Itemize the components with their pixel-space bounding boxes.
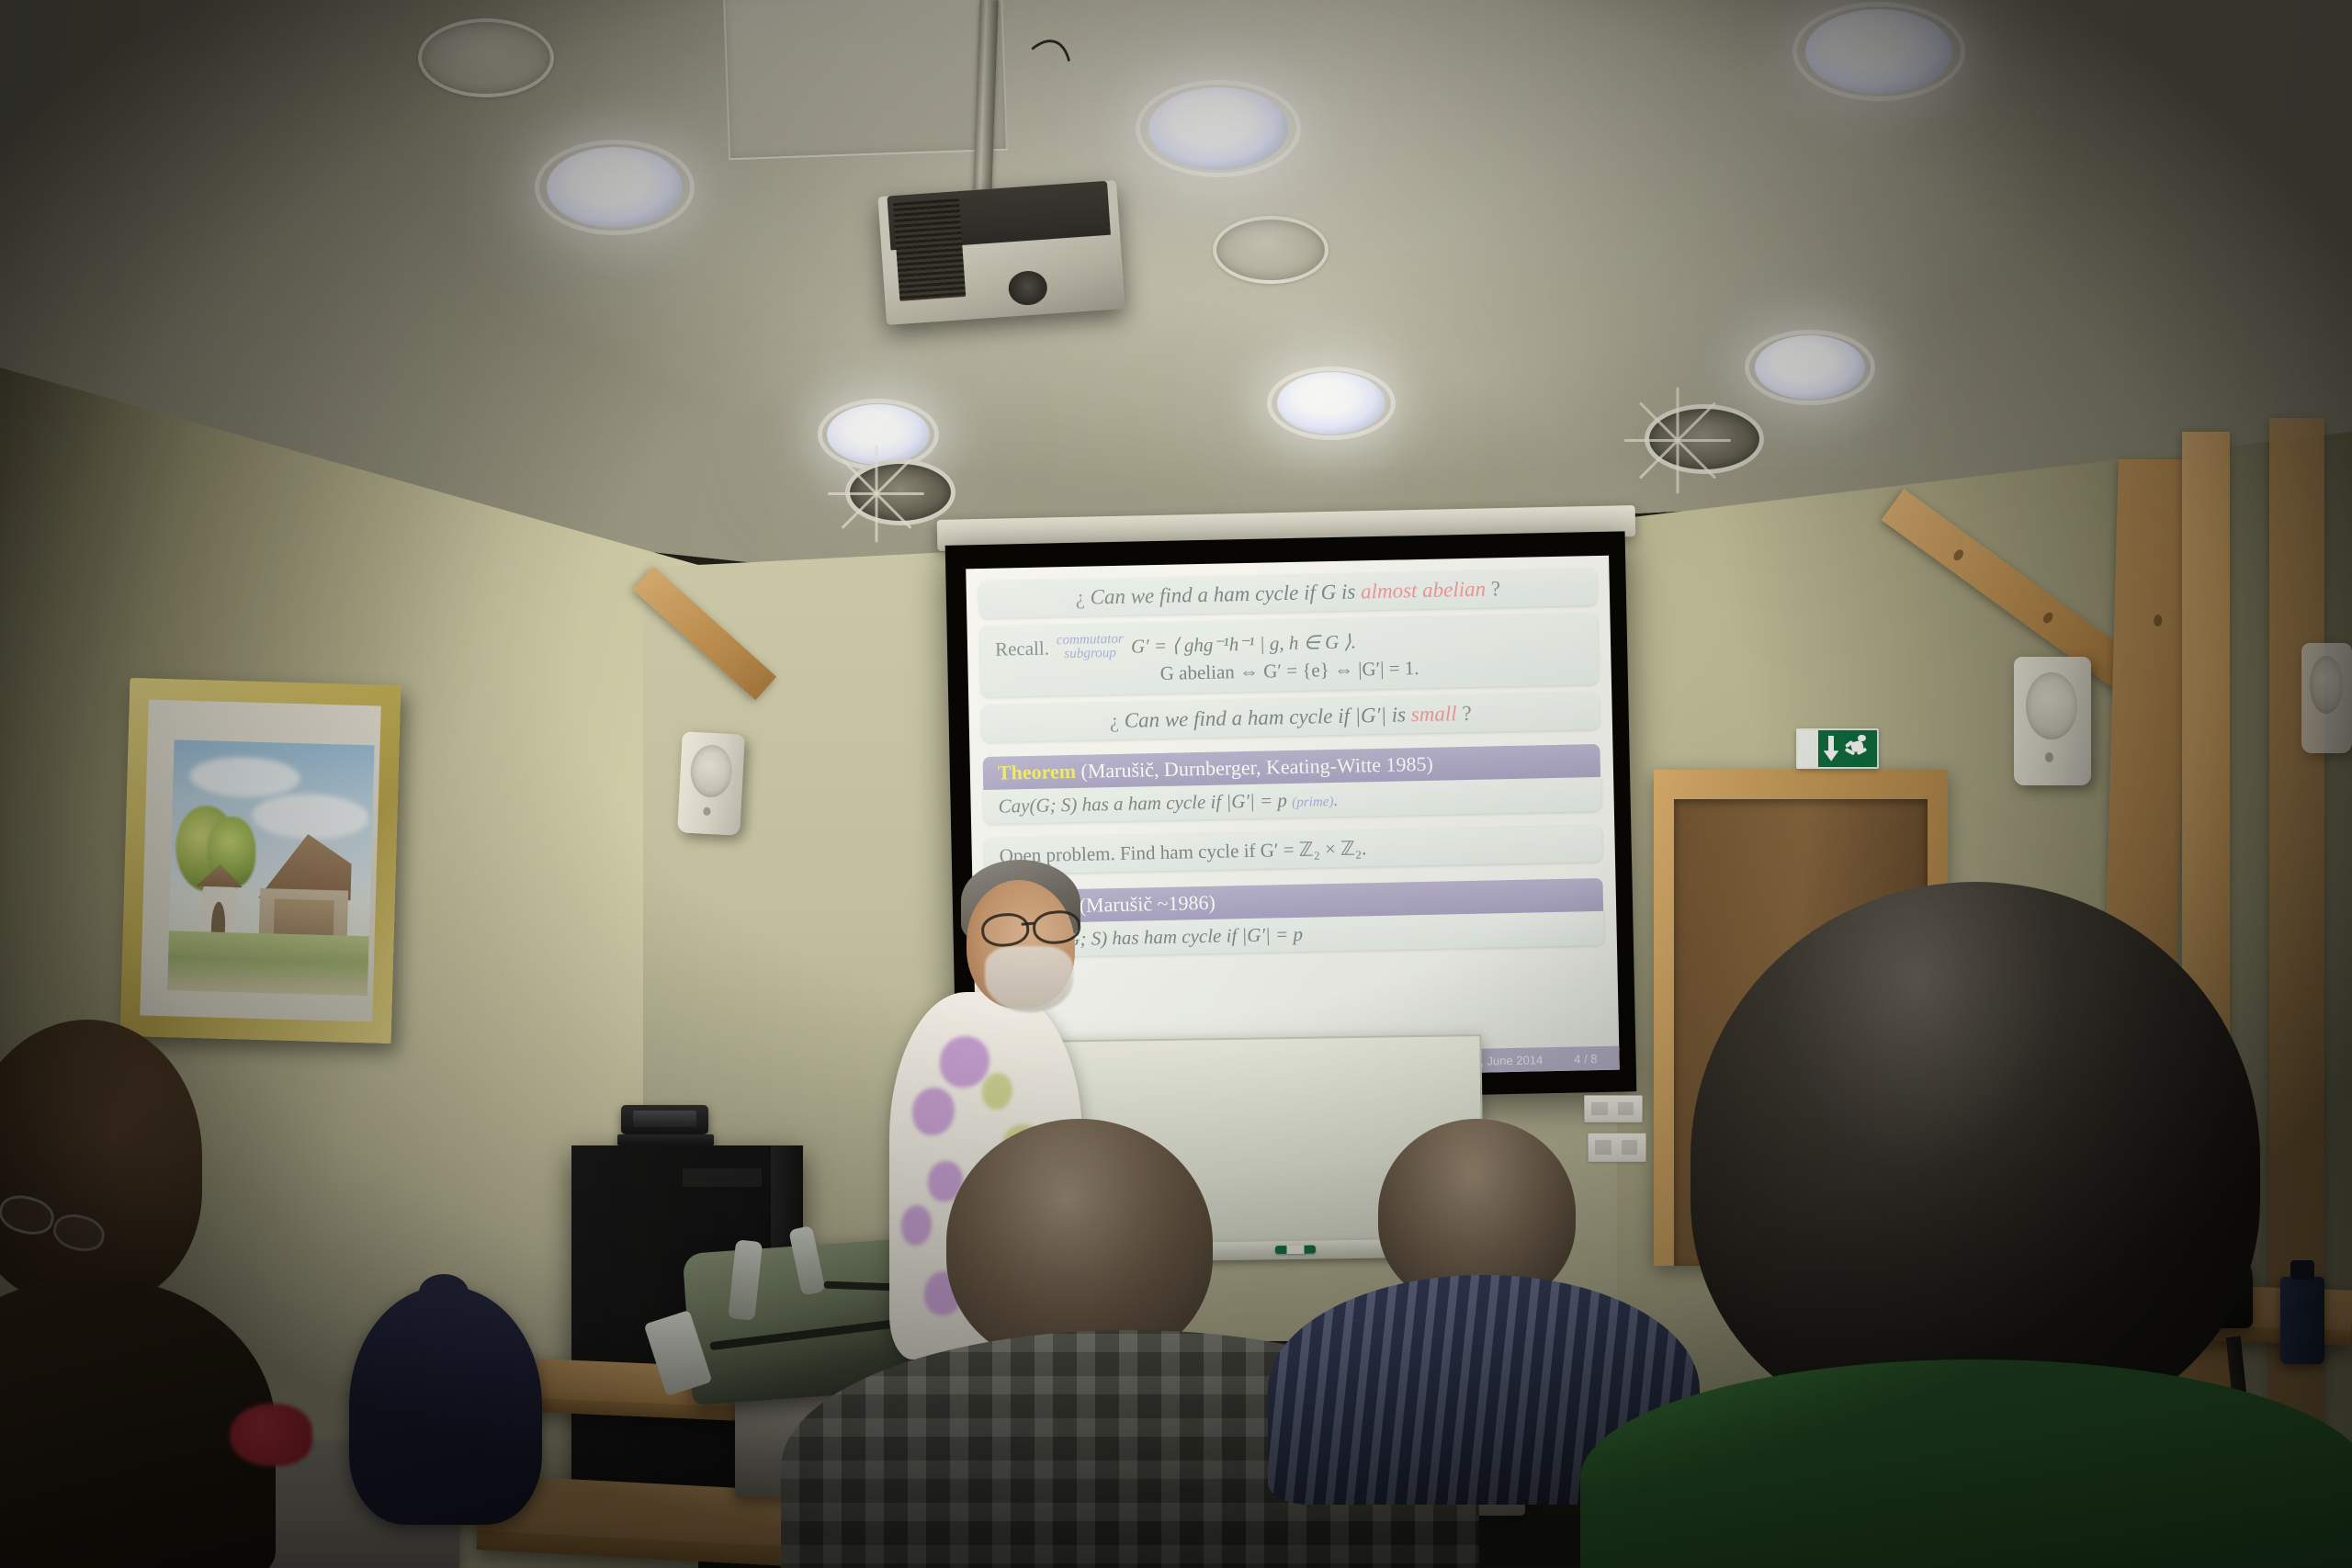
ceiling-light	[547, 147, 683, 228]
slide-question-2: ¿ Can we find a ham cycle if |G′| is sma…	[981, 693, 1600, 742]
audience-head	[1690, 882, 2260, 1433]
ceiling-light	[1277, 372, 1385, 434]
question-2-highlight: small	[1411, 703, 1457, 727]
question-2-math: |G′|	[1354, 704, 1386, 728]
question-2-text-b: is	[1386, 704, 1411, 728]
ceiling-projector	[877, 180, 1125, 325]
audience-head	[946, 1119, 1213, 1367]
recall-formula-1: G′ = ⟨ ghg⁻¹h⁻¹ | g, h ∈ G ⟩.	[1131, 631, 1357, 658]
down-arrow-icon	[1823, 736, 1840, 762]
presenter-beard	[985, 946, 1073, 1012]
ceiling-light	[827, 404, 930, 465]
painting-artwork	[167, 740, 375, 997]
question-mark-close: ?	[1491, 577, 1501, 600]
theorem-keyword: Theorem	[998, 760, 1077, 784]
question-1-text-a: Can we find a ham cycle if	[1090, 581, 1321, 608]
question-2-text-a: Can we find a ham cycle if	[1124, 705, 1355, 732]
theorem-attribution: (Marušič, Durnberger, Keating-Witte 1985…	[1080, 752, 1433, 783]
recall-formula-2: G abelian ⇔ G′ = {e} ⇔ |G′| = 1.	[1159, 657, 1419, 684]
ceiling-light	[1755, 335, 1865, 400]
air-vent	[845, 459, 955, 525]
ceiling-access-hatch	[723, 0, 1008, 160]
theorem-statement-note: (prime)	[1292, 795, 1334, 810]
ceiling-light	[1805, 9, 1952, 94]
question-2-mark-close: ?	[1462, 702, 1472, 725]
framed-painting	[120, 678, 401, 1043]
audience-green-shirt	[1580, 1359, 2352, 1568]
theorem-statement-end: .	[1333, 788, 1339, 810]
question-mark-open: ¿	[1075, 586, 1085, 609]
question-1-math-g: G	[1320, 581, 1336, 604]
ceiling-speaker-grille	[418, 18, 554, 97]
wall-speaker-left	[677, 731, 745, 835]
recall-annotation-line-2: subgroup	[1057, 647, 1124, 662]
slide-recall-block: Recall. commutator subgroup G′ = ⟨ ghg⁻¹…	[980, 614, 1599, 697]
lecture-room-photo: ¿ Can we find a ham cycle if G is almost…	[0, 0, 2352, 1568]
audience-beanie	[349, 1286, 542, 1525]
wall-speaker-far-right	[2301, 643, 2352, 753]
audience-shoulder	[0, 1277, 276, 1568]
slide-question-1: ¿ Can we find a ham cycle if G is almost…	[979, 569, 1598, 618]
rack-top-device-base	[617, 1134, 714, 1145]
audience-head	[0, 1020, 202, 1304]
ceiling-light	[1148, 87, 1288, 170]
rack-top-device[interactable]	[621, 1105, 708, 1134]
air-vent	[1645, 404, 1764, 474]
recall-label: Recall.	[995, 637, 1049, 660]
running-person-icon	[1842, 734, 1871, 763]
question-1-text-b: is	[1336, 580, 1361, 604]
question-1-highlight: almost abelian	[1361, 578, 1487, 604]
wall-speaker-right	[2014, 657, 2091, 785]
question-2-mark-open: ¿	[1109, 709, 1119, 732]
theorem-statement-text: Cay(G; S) has a ham cycle if |G′| = p	[998, 789, 1287, 818]
audience-left-glasses	[0, 1020, 266, 1568]
ceiling-speaker-grille	[1213, 216, 1329, 284]
audience-green	[1525, 882, 2352, 1568]
emergency-exit-sign	[1796, 728, 1879, 769]
